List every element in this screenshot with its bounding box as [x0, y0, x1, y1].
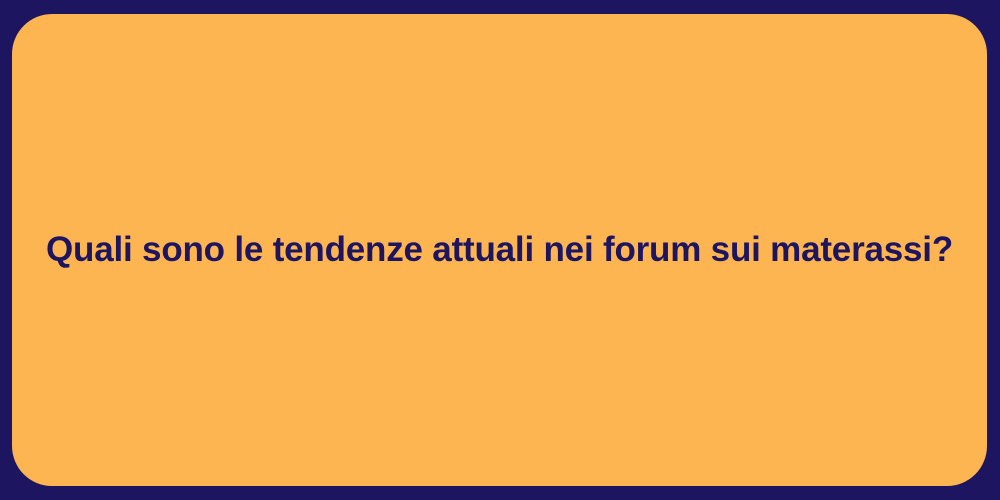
banner-card: Quali sono le tendenze attuali nei forum… [12, 14, 987, 486]
banner-frame: Quali sono le tendenze attuali nei forum… [0, 0, 1000, 500]
banner-heading: Quali sono le tendenze attuali nei forum… [46, 228, 953, 272]
